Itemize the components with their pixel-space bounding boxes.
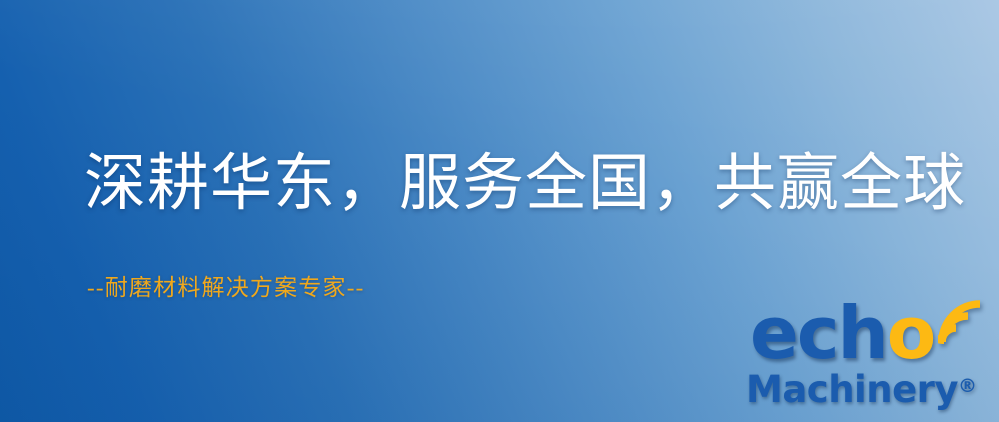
signal-waves-icon bbox=[938, 288, 996, 346]
banner-headline: 深耕华东，服务全国，共赢全球 bbox=[84, 152, 966, 217]
logo-brand-line: Machinery® bbox=[746, 368, 977, 411]
registered-trademark-icon: ® bbox=[958, 375, 977, 397]
logo-brand-text: Machinery bbox=[746, 368, 958, 411]
logo-wordmark: echo bbox=[742, 292, 994, 374]
hero-banner: 深耕华东，服务全国，共赢全球 --耐磨材料解决方案专家-- echo Machi… bbox=[0, 0, 999, 422]
banner-subtitle: --耐磨材料解决方案专家-- bbox=[87, 268, 364, 302]
logo-echo-accent-o: o bbox=[887, 291, 934, 375]
logo-echo-text: echo bbox=[750, 294, 934, 372]
logo-echo-prefix: ech bbox=[750, 291, 887, 375]
echo-machinery-logo[interactable]: echo Machinery® bbox=[742, 292, 994, 420]
